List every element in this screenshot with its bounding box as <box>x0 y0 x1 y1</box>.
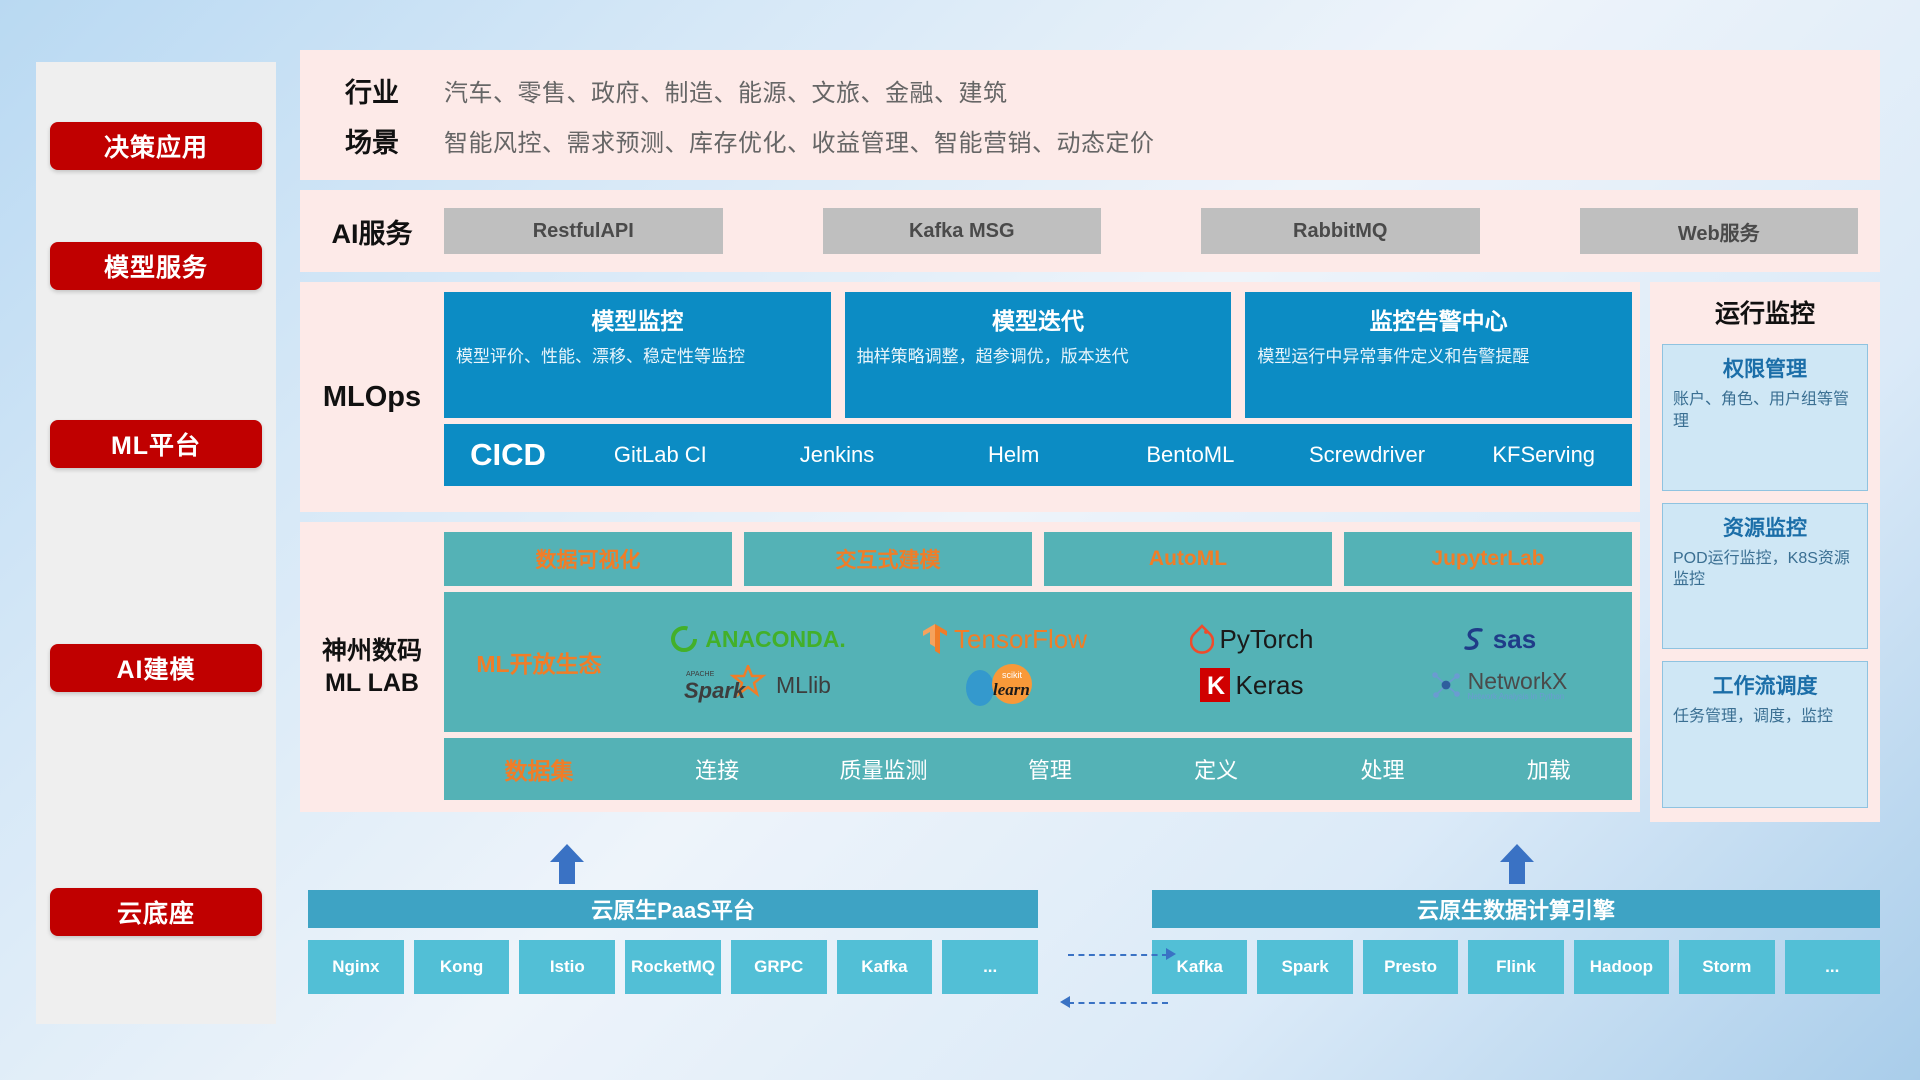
ml-lab-label-line2: ML LAB <box>325 667 419 699</box>
rail-tag-cloud-base[interactable]: 云底座 <box>50 888 262 936</box>
cloud-paas-group: 云原生PaaS平台 Nginx Kong Istio RocketMQ GRPC… <box>308 890 1038 994</box>
card-title: 模型迭代 <box>857 302 1220 336</box>
mlops-label: MLOps <box>300 292 444 502</box>
cicd-item-bentoml[interactable]: BentoML <box>1102 442 1279 467</box>
cloud-chip-flink[interactable]: Flink <box>1468 940 1563 994</box>
mlops-card-alert-center[interactable]: 监控告警中心 模型运行中异常事件定义和告警提醒 <box>1245 292 1632 418</box>
rail-tag-model-serving[interactable]: 模型服务 <box>50 242 262 290</box>
runtime-monitoring-column: 运行监控 权限管理 账户、角色、用户组等管理 资源监控 POD运行监控，K8S资… <box>1650 282 1880 822</box>
ai-service-chip-web[interactable]: Web服务 <box>1580 208 1859 254</box>
industry-text: 汽车、零售、政府、制造、能源、文旅、金融、建筑 <box>444 73 1008 108</box>
paas-up-arrow <box>550 844 584 884</box>
mlops-card-model-iteration[interactable]: 模型迭代 抽样策略调整，超参调优，版本迭代 <box>845 292 1232 418</box>
anaconda-icon <box>669 624 699 654</box>
card-desc: 模型评价、性能、漂移、稳定性等监控 <box>456 346 819 369</box>
monitor-card-workflow[interactable]: 工作流调度 任务管理，调度，监控 <box>1662 661 1868 808</box>
ml-ecosystem-label: ML开放生态 <box>444 645 634 679</box>
tool-chip-jupyterlab[interactable]: JupyterLab <box>1344 532 1632 586</box>
cloud-chip-rocketmq[interactable]: RocketMQ <box>625 940 721 994</box>
mlops-card-model-monitoring[interactable]: 模型监控 模型评价、性能、漂移、稳定性等监控 <box>444 292 831 418</box>
card-title: 资源监控 <box>1673 512 1857 542</box>
card-title: 权限管理 <box>1673 353 1857 383</box>
cloud-chip-kong[interactable]: Kong <box>414 940 510 994</box>
cloud-data-engine-group: 云原生数据计算引擎 Kafka Spark Presto Flink Hadoo… <box>1152 890 1880 994</box>
link-line-right <box>1068 954 1168 956</box>
industry-row: 行业 汽车、零售、政府、制造、能源、文旅、金融、建筑 <box>300 65 1880 115</box>
platform-section: MLOps 模型监控 模型评价、性能、漂移、稳定性等监控 模型迭代 抽样策略调整… <box>300 282 1880 822</box>
mllib-label: MLlib <box>776 672 831 699</box>
spark-mllib-logo: APACHE Spark MLlib <box>684 665 831 705</box>
link-arrowhead-left <box>1060 996 1070 1008</box>
ml-lab-tool-list: 数据可视化 交互式建模 AutoML JupyterLab <box>444 532 1632 586</box>
architecture-diagram: 决策应用 模型服务 ML平台 AI建模 云底座 行业 汽车、零售、政府、制造、能… <box>0 0 1920 1080</box>
ai-service-chip-list: RestfulAPI Kafka MSG RabbitMQ Web服务 <box>444 208 1880 254</box>
cicd-bar: CICD GitLab CI Jenkins Helm BentoML Scre… <box>444 424 1632 486</box>
cloud-chip-hadoop[interactable]: Hadoop <box>1574 940 1669 994</box>
tensorflow-icon <box>922 623 948 655</box>
cloud-paas-chip-list: Nginx Kong Istio RocketMQ GRPC Kafka ... <box>308 940 1038 994</box>
mlops-band: MLOps 模型监控 模型评价、性能、漂移、稳定性等监控 模型迭代 抽样策略调整… <box>300 282 1640 512</box>
tool-chip-interactive-modeling[interactable]: 交互式建模 <box>744 532 1032 586</box>
mlops-card-list: 模型监控 模型评价、性能、漂移、稳定性等监控 模型迭代 抽样策略调整，超参调优，… <box>444 292 1632 418</box>
card-desc: 任务管理，调度，监控 <box>1673 706 1857 728</box>
scenario-text: 智能风控、需求预测、库存优化、收益管理、智能营销、动态定价 <box>444 123 1155 158</box>
ai-service-label: AI服务 <box>300 212 444 251</box>
cicd-item-jenkins[interactable]: Jenkins <box>749 442 926 467</box>
cloud-data-engine-chip-list: Kafka Spark Presto Flink Hadoop Storm ..… <box>1152 940 1880 994</box>
cicd-title: CICD <box>444 437 572 473</box>
dataset-item-load[interactable]: 加载 <box>1466 753 1632 785</box>
cloud-chip-storm[interactable]: Storm <box>1679 940 1774 994</box>
scikit-learn-logo: scikit learn <box>962 662 1048 708</box>
dataset-item-connect[interactable]: 连接 <box>634 753 800 785</box>
cicd-item-screwdriver[interactable]: Screwdriver <box>1279 442 1456 467</box>
cloud-paas-title: 云原生PaaS平台 <box>308 890 1038 928</box>
mlops-content: 模型监控 模型评价、性能、漂移、稳定性等监控 模型迭代 抽样策略调整，超参调优，… <box>444 292 1640 502</box>
card-desc: POD运行监控，K8S资源监控 <box>1673 548 1857 591</box>
svg-text:learn: learn <box>993 680 1030 699</box>
card-title: 模型监控 <box>456 302 819 336</box>
cicd-item-helm[interactable]: Helm <box>925 442 1102 467</box>
card-desc: 账户、角色、用户组等管理 <box>1673 389 1857 432</box>
runtime-monitoring-panel: 运行监控 权限管理 账户、角色、用户组等管理 资源监控 POD运行监控，K8S资… <box>1650 282 1880 822</box>
platform-left-stack: MLOps 模型监控 模型评价、性能、漂移、稳定性等监控 模型迭代 抽样策略调整… <box>300 282 1640 822</box>
tool-chip-automl[interactable]: AutoML <box>1044 532 1332 586</box>
ai-service-chip-rabbitmq[interactable]: RabbitMQ <box>1201 208 1480 254</box>
keras-label: Keras <box>1236 670 1304 701</box>
keras-icon: K <box>1200 668 1230 702</box>
card-desc: 模型运行中异常事件定义和告警提醒 <box>1257 346 1620 369</box>
networkx-tagline: Network Analysis in Python <box>1468 693 1568 701</box>
cloud-chip-nginx[interactable]: Nginx <box>308 940 404 994</box>
cloud-link-arrows <box>1060 940 1176 1018</box>
scenario-label: 场景 <box>300 121 444 160</box>
dataset-item-manage[interactable]: 管理 <box>967 753 1133 785</box>
pytorch-label: PyTorch <box>1220 624 1314 655</box>
svg-text:scikit: scikit <box>1002 670 1022 680</box>
pytorch-icon <box>1190 624 1214 654</box>
anaconda-logo: ANACONDA. <box>669 624 846 654</box>
networkx-logo: NetworkX Network Analysis in Python <box>1430 669 1568 702</box>
industry-label: 行业 <box>300 71 444 110</box>
rail-tag-ml-platform[interactable]: ML平台 <box>50 420 262 468</box>
scenario-row: 场景 智能风控、需求预测、库存优化、收益管理、智能营销、动态定价 <box>300 115 1880 165</box>
decision-application-band: 行业 汽车、零售、政府、制造、能源、文旅、金融、建筑 场景 智能风控、需求预测、… <box>300 50 1880 180</box>
monitor-card-resource[interactable]: 资源监控 POD运行监控，K8S资源监控 <box>1662 503 1868 650</box>
networkx-icon <box>1430 669 1462 701</box>
dataset-item-list: 连接 质量监测 管理 定义 处理 加载 <box>634 753 1632 785</box>
ml-ecosystem-logo-grid: ANACONDA. TensorFlow <box>634 616 1632 708</box>
networkx-label: NetworkX <box>1468 669 1568 693</box>
anaconda-label: ANACONDA. <box>705 626 846 653</box>
spark-icon: APACHE Spark <box>684 665 770 705</box>
dataset-item-process[interactable]: 处理 <box>1299 753 1465 785</box>
cloud-chip-spark[interactable]: Spark <box>1257 940 1352 994</box>
ai-service-band: AI服务 RestfulAPI Kafka MSG RabbitMQ Web服务 <box>300 190 1880 272</box>
runtime-monitoring-title: 运行监控 <box>1662 294 1868 330</box>
cloud-chip-grpc[interactable]: GRPC <box>731 940 827 994</box>
rail-tag-ai-modeling[interactable]: AI建模 <box>50 644 262 692</box>
tensorflow-logo: TensorFlow <box>922 623 1087 655</box>
ai-service-chip-kafka-msg[interactable]: Kafka MSG <box>823 208 1102 254</box>
cloud-data-engine-title: 云原生数据计算引擎 <box>1152 890 1880 928</box>
sas-label: sas <box>1493 624 1536 655</box>
sas-logo: sas <box>1461 624 1536 655</box>
ai-service-chip-restfulapi[interactable]: RestfulAPI <box>444 208 723 254</box>
tensorflow-label: TensorFlow <box>954 624 1087 655</box>
card-title: 监控告警中心 <box>1257 302 1620 336</box>
keras-logo: K Keras <box>1200 668 1304 702</box>
cloud-chip-istio[interactable]: Istio <box>519 940 615 994</box>
ml-lab-label: 神州数码 ML LAB <box>300 532 444 802</box>
cloud-chip-kafka[interactable]: Kafka <box>837 940 933 994</box>
ml-lab-label-line1: 神州数码 <box>322 635 422 667</box>
dataset-label: 数据集 <box>444 752 634 786</box>
tool-chip-data-visualization[interactable]: 数据可视化 <box>444 532 732 586</box>
data-engine-up-arrow <box>1500 844 1534 884</box>
layer-rail: 决策应用 模型服务 ML平台 AI建模 云底座 <box>36 62 276 1024</box>
dataset-item-quality[interactable]: 质量监测 <box>800 753 966 785</box>
svg-text:Spark: Spark <box>684 678 747 703</box>
cicd-item-gitlab-ci[interactable]: GitLab CI <box>572 442 749 467</box>
sas-icon <box>1461 625 1487 653</box>
ml-ecosystem-row: ML开放生态 ANACONDA. <box>444 592 1632 732</box>
cicd-item-list: GitLab CI Jenkins Helm BentoML Screwdriv… <box>572 442 1632 467</box>
card-title: 工作流调度 <box>1673 670 1857 700</box>
cloud-chip-more[interactable]: ... <box>942 940 1038 994</box>
main-stack: 行业 汽车、零售、政府、制造、能源、文旅、金融、建筑 场景 智能风控、需求预测、… <box>300 50 1880 822</box>
dataset-item-define[interactable]: 定义 <box>1133 753 1299 785</box>
scikit-learn-icon: scikit learn <box>962 662 1048 708</box>
link-arrowhead-right <box>1166 948 1176 960</box>
svg-text:K: K <box>1207 672 1225 700</box>
ml-lab-content: 数据可视化 交互式建模 AutoML JupyterLab ML开放生态 <box>444 532 1640 802</box>
cicd-item-kfserving[interactable]: KFServing <box>1455 442 1632 467</box>
cloud-chip-more-de[interactable]: ... <box>1785 940 1880 994</box>
link-line-left <box>1068 1002 1168 1004</box>
cloud-chip-presto[interactable]: Presto <box>1363 940 1458 994</box>
rail-tag-decision[interactable]: 决策应用 <box>50 122 262 170</box>
dataset-row: 数据集 连接 质量监测 管理 定义 处理 加载 <box>444 738 1632 800</box>
card-desc: 抽样策略调整，超参调优，版本迭代 <box>857 346 1220 369</box>
svg-text:APACHE: APACHE <box>686 671 715 678</box>
monitor-card-permission[interactable]: 权限管理 账户、角色、用户组等管理 <box>1662 344 1868 491</box>
pytorch-logo: PyTorch <box>1190 624 1314 655</box>
ml-lab-band: 神州数码 ML LAB 数据可视化 交互式建模 AutoML JupyterLa… <box>300 522 1640 812</box>
